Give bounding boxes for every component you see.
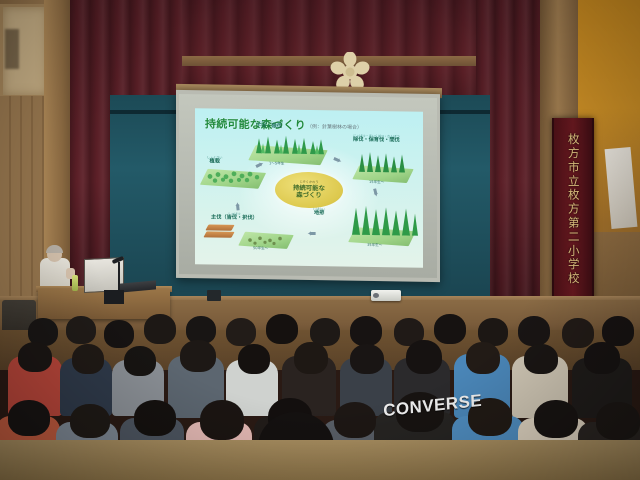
school-name-banner-text: 枚方市立枚方第二小学校 [567, 133, 579, 286]
cycle-arrow-thinning-to-mature: ➨ [369, 187, 382, 198]
slide-stage-jibarai-label: 地拵 [313, 211, 325, 217]
audience-head [200, 400, 244, 440]
audience-head [584, 342, 620, 374]
slide-stage-jibarai: じばらい 地拵 [313, 208, 325, 217]
school-name-banner: 枚方市立枚方第二小学校 [552, 118, 594, 300]
audience-head [238, 344, 270, 374]
audience-head [524, 344, 558, 374]
slide-stage-mainfell-age: 50年生～ [253, 246, 268, 251]
audience-head [134, 400, 176, 436]
cycle-arrow-mainfell-to-planting: ➨ [232, 201, 244, 211]
audience-head [266, 314, 298, 344]
cycle-arrow-mature-to-mainfell: ➨ [307, 228, 316, 239]
slide-stage-weeding-label: 下刈・除伐 [255, 124, 283, 130]
projection-screen: 持続可能な森づくり （例：針葉樹林の場合） じぞくかのう 持続可能な 森づくり … [176, 90, 440, 282]
audience-head [350, 316, 382, 346]
water-bottle [72, 275, 78, 291]
auditorium-scene: 枚方市立枚方第二小学校 持続可能な森づくり （例：針葉樹林の場合） じぞくかのう… [0, 0, 640, 480]
cycle-center-oval: じぞくかのう 持続可能な 森づくり [275, 171, 343, 208]
slide-stage-mature-age: 35年生～ [367, 243, 382, 248]
young-trees-weeding [251, 131, 329, 156]
projector-lens-icon [373, 293, 379, 298]
audience-head [406, 340, 442, 374]
hall-floor [0, 440, 640, 480]
slide-stage-thinning-age: 15年生～ [369, 180, 384, 185]
audience-head [518, 316, 550, 346]
audience-head [180, 340, 216, 372]
slide-subtitle: （例：針葉樹林の場合） [307, 123, 362, 131]
presenter-hair [46, 245, 63, 253]
audience-head [350, 344, 384, 374]
audience-head [18, 342, 52, 372]
wall-panel-shadow [5, 29, 19, 69]
audience-head [334, 402, 376, 438]
slide-stage-weeding: したがり・じょばつ 下刈・除伐 [255, 121, 283, 130]
cut-log-1 [205, 224, 234, 230]
trees-thinning [355, 149, 415, 175]
audience-head [66, 316, 96, 344]
slide-stage-mainfell: しゅばつ 主伐（皆伐・択伐） [211, 212, 258, 222]
audience-head [562, 318, 594, 348]
audience-head [104, 320, 134, 348]
cycle-center-label-line2: 森づくり [296, 191, 322, 198]
audience-head [124, 346, 156, 376]
audience-head [226, 318, 256, 346]
audience-head [434, 314, 466, 344]
audience-head [72, 344, 104, 374]
audience-head [466, 342, 500, 374]
wall-framed-panel [0, 4, 50, 98]
projection-screen-surface: 持続可能な森づくり （例：針葉樹林の場合） じぞくかのう 持続可能な 森づくり … [179, 94, 437, 278]
audience-head [144, 314, 176, 344]
audience-head [294, 342, 328, 374]
audience-head [8, 400, 50, 436]
trees-mature [347, 205, 419, 238]
audience-head [70, 404, 110, 438]
cut-log-2 [203, 231, 234, 237]
slide-stage-thinning: じょばつ・ほいくばつ・かんばつ 除伐・保育伐・間伐 [353, 135, 400, 145]
audience-head [596, 402, 640, 440]
presentation-slide: 持続可能な森づくり （例：針葉樹林の場合） じぞくかのう 持続可能な 森づくり … [195, 108, 423, 268]
audience-head [534, 400, 578, 438]
slide-stage-mainfell-label: 主伐（皆伐・択伐） [211, 216, 258, 222]
slide-stage-thinning-label: 除伐・保育伐・間伐 [353, 138, 400, 144]
slide-stage-weeding-age: 1～5年生 [269, 161, 284, 166]
